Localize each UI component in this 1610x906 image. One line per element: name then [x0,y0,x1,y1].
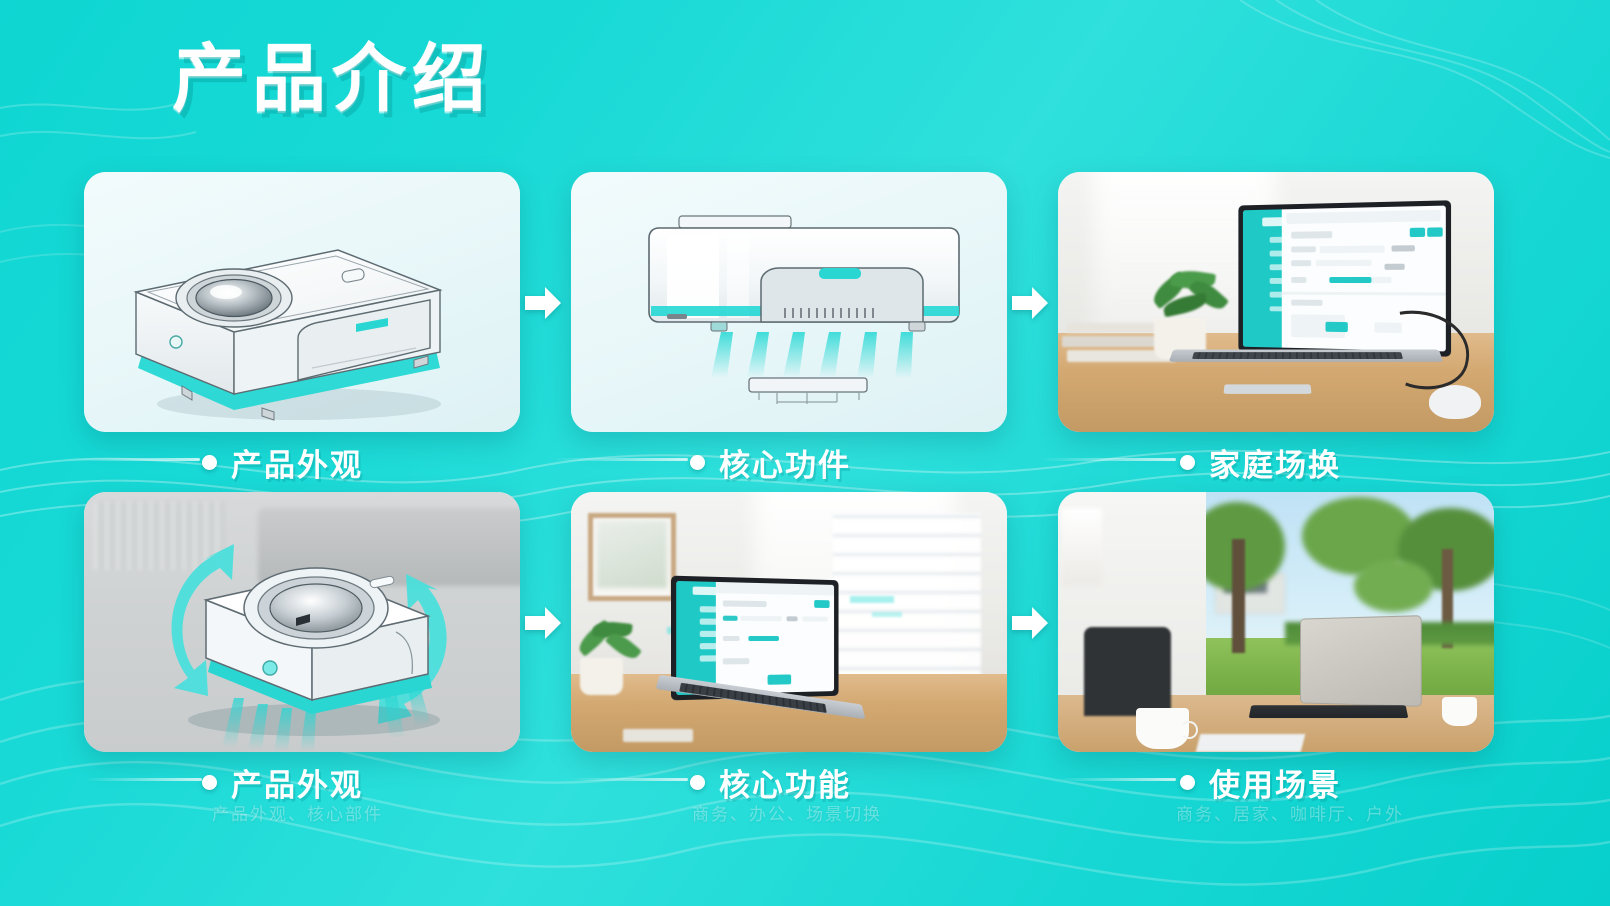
caption-label: 核心功能 [719,760,851,805]
arrow-row2-2 [1010,604,1050,642]
caption-core-components: 核心功件 [690,440,851,485]
dot-icon [1180,455,1195,470]
caption-product-appearance-rotate: 产品外观 [202,760,363,805]
laptop-desk-photo [1058,172,1494,432]
device-isometric-drawing [84,172,520,432]
dot-icon [690,775,705,790]
arrow-right-icon [1010,604,1050,642]
card-use-scenario[interactable] [1058,492,1494,752]
arrow-row1-2 [1010,284,1050,322]
caption-line-2 [552,458,688,461]
core-components-illustration [571,172,1007,432]
caption-home-scene: 家庭场换 [1180,440,1341,485]
subcaption-core-function: 商务、办公、场景切换 [692,800,882,825]
caption-line-3 [1040,458,1176,461]
arrow-right-icon [523,604,563,642]
arrow-row2-1 [523,604,563,642]
card-core-components[interactable] [571,172,1007,432]
dot-icon [690,455,705,470]
caption-line-6 [1058,778,1176,781]
card-home-scene[interactable] [1058,172,1494,432]
woman-outdoor-photo [1058,492,1494,752]
caption-label: 家庭场换 [1209,440,1341,485]
caption-core-function: 核心功能 [690,760,851,805]
arrow-right-icon [1010,284,1050,322]
caption-label: 核心功件 [719,440,851,485]
product-rotation-illustration [84,492,520,752]
subcaption-use-scenario: 商务、居家、咖啡厅、户外 [1176,800,1404,825]
card-core-function[interactable] [571,492,1007,752]
page-title: 产品介绍 [172,42,492,116]
caption-label: 使用场景 [1209,760,1341,805]
caption-line-1 [64,458,200,461]
product-appearance-illustration [84,172,520,432]
caption-use-scenario: 使用场景 [1180,760,1341,805]
card-product-appearance-rotate[interactable] [84,492,520,752]
subcaption-product-appearance-rotate: 产品外观、核心部件 [212,800,383,825]
caption-line-5 [570,778,688,781]
dot-icon [202,455,217,470]
caption-product-appearance: 产品外观 [202,440,363,485]
device-side-view-drawing [571,172,1007,432]
device-rotation-drawing [84,492,520,752]
caption-label: 产品外观 [231,760,363,805]
dot-icon [1180,775,1195,790]
caption-label: 产品外观 [231,440,363,485]
card-product-appearance[interactable] [84,172,520,432]
caption-line-4 [84,778,202,781]
person-laptop-photo [571,492,1007,752]
arrow-row1-1 [523,284,563,322]
slide-root: 产品介绍 [0,0,1610,906]
arrow-right-icon [523,284,563,322]
dot-icon [202,775,217,790]
